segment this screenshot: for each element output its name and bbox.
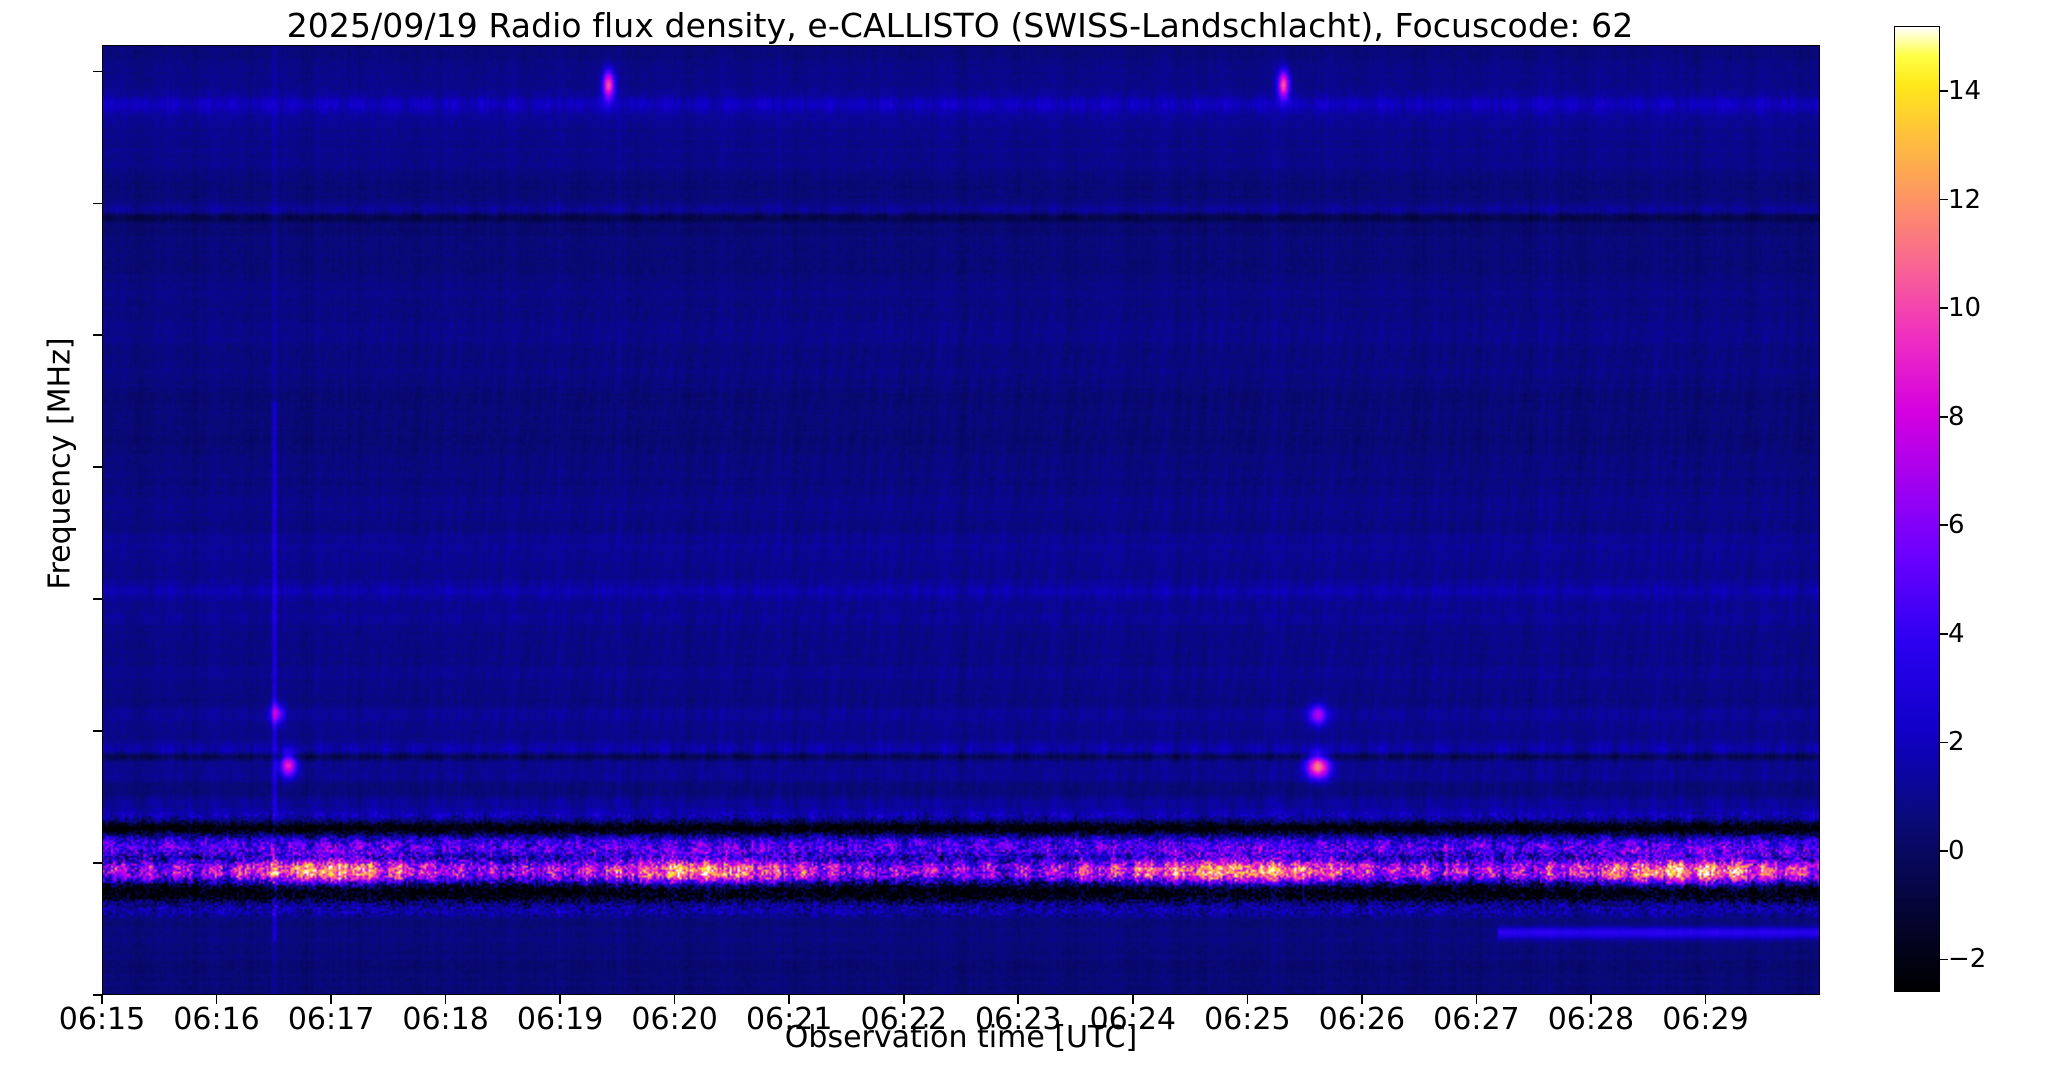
x-tick-mark xyxy=(903,995,905,1004)
x-tick-mark xyxy=(1705,995,1707,1004)
spectrogram-figure: 2025/09/19 Radio flux density, e-CALLIST… xyxy=(0,0,2047,1067)
x-tick-label: 06:20 xyxy=(631,1002,717,1037)
colorbar-tick-label: 6 xyxy=(1948,510,1965,540)
x-tick-label: 06:21 xyxy=(746,1002,832,1037)
x-tick-label: 06:16 xyxy=(173,1002,259,1037)
x-tick-label: 06:28 xyxy=(1548,1002,1634,1037)
x-tick-label: 06:26 xyxy=(1319,1002,1405,1037)
x-tick-mark xyxy=(445,995,447,1004)
x-tick-label: 06:15 xyxy=(59,1002,145,1037)
x-tick-label: 06:19 xyxy=(517,1002,603,1037)
colorbar-tick-mark xyxy=(1939,742,1948,744)
colorbar-tick-label: 12 xyxy=(1948,185,1981,215)
y-axis-label: Frequency [MHz] xyxy=(43,114,78,814)
x-tick-mark xyxy=(1590,995,1592,1004)
colorbar-tick-mark xyxy=(1939,307,1948,309)
y-tick-mark xyxy=(93,466,102,468)
colorbar-tick-label: −2 xyxy=(1948,944,1986,974)
x-tick-mark xyxy=(330,995,332,1004)
x-tick-mark xyxy=(1017,995,1019,1004)
colorbar-tick-label: 10 xyxy=(1948,293,1981,323)
colorbar xyxy=(1894,26,1940,992)
colorbar-tick-mark xyxy=(1939,416,1948,418)
colorbar-tick-label: 4 xyxy=(1948,619,1965,649)
x-tick-label: 06:29 xyxy=(1662,1002,1748,1037)
colorbar-tick-mark xyxy=(1939,633,1948,635)
x-tick-mark xyxy=(1132,995,1134,1004)
x-tick-label: 06:24 xyxy=(1090,1002,1176,1037)
x-tick-label: 06:22 xyxy=(860,1002,946,1037)
y-tick-mark xyxy=(93,71,102,73)
x-tick-mark xyxy=(1247,995,1249,1004)
x-tick-label: 06:25 xyxy=(1204,1002,1290,1037)
x-tick-label: 06:18 xyxy=(402,1002,488,1037)
colorbar-tick-mark xyxy=(1939,199,1948,201)
page-title: 2025/09/19 Radio flux density, e-CALLIST… xyxy=(0,6,1920,45)
x-tick-mark xyxy=(101,995,103,1004)
spectrogram-image xyxy=(103,46,1819,994)
colorbar-tick-mark xyxy=(1939,90,1948,92)
x-tick-mark xyxy=(674,995,676,1004)
colorbar-tick-label: 0 xyxy=(1948,836,1965,866)
spectrogram-axes xyxy=(102,45,1820,995)
y-tick-mark xyxy=(93,203,102,205)
x-tick-label: 06:17 xyxy=(288,1002,374,1037)
y-tick-mark xyxy=(93,862,102,864)
y-tick-mark xyxy=(93,334,102,336)
x-tick-mark xyxy=(1361,995,1363,1004)
colorbar-tick-label: 2 xyxy=(1948,727,1965,757)
x-tick-label: 06:27 xyxy=(1433,1002,1519,1037)
spectrogram-canvas xyxy=(103,46,1819,994)
colorbar-tick-mark xyxy=(1939,959,1948,961)
colorbar-tick-mark xyxy=(1939,524,1948,526)
x-tick-mark xyxy=(216,995,218,1004)
x-tick-mark xyxy=(559,995,561,1004)
colorbar-tick-label: 8 xyxy=(1948,402,1965,432)
colorbar-tick-mark xyxy=(1939,850,1948,852)
x-tick-mark xyxy=(788,995,790,1004)
colorbar-gradient xyxy=(1895,27,1939,991)
y-tick-mark xyxy=(93,598,102,600)
x-tick-label: 06:23 xyxy=(975,1002,1061,1037)
x-tick-mark xyxy=(1476,995,1478,1004)
y-tick-mark xyxy=(93,730,102,732)
colorbar-tick-label: 14 xyxy=(1948,76,1981,106)
